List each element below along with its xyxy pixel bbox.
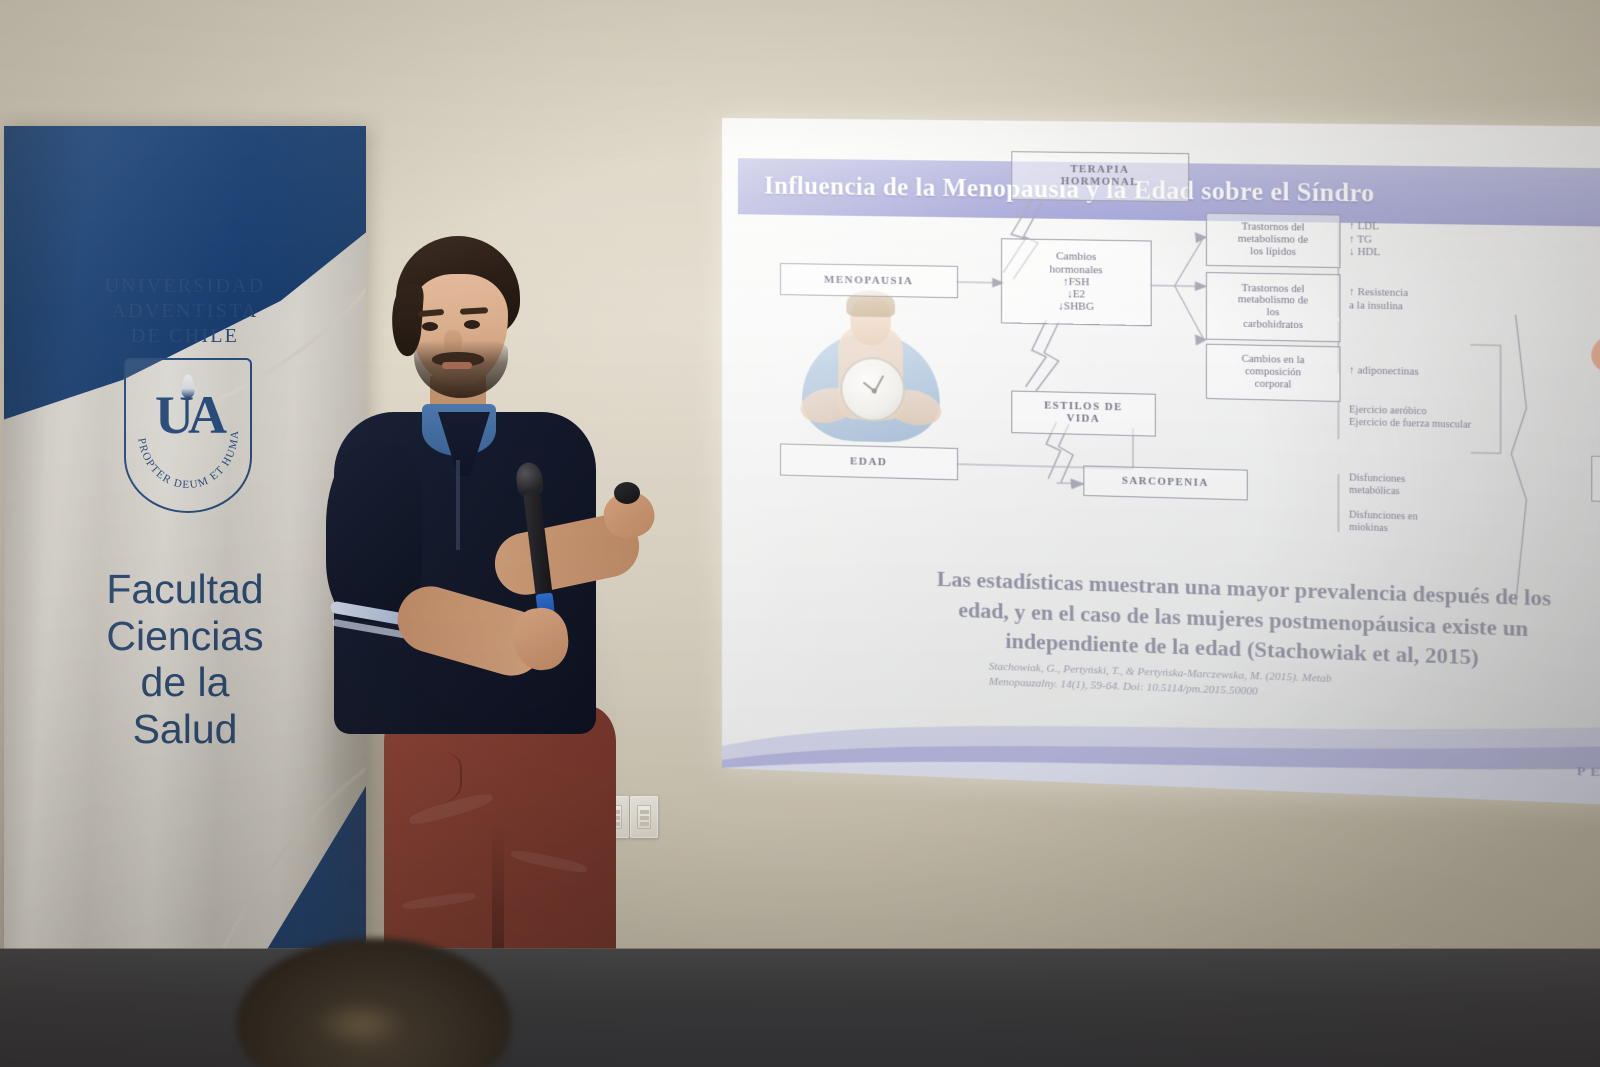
university-seal-icon: UA PROPTER DEUM ET HUMANITATEM <box>124 358 252 513</box>
diagram-node-terapia-hormonal: TERAPIA HORMONAL <box>1011 151 1189 202</box>
audience-highlight <box>312 1000 408 1048</box>
presentation-photo: Influencia de la Menopausia y la Edad so… <box>0 0 1600 1067</box>
slide-footer-brand: P EDUC <box>1577 762 1600 783</box>
diagram-node-cambios-hormonales: Cambios hormonales ↑FSH ↓E2 ↓SHBG <box>1001 238 1152 326</box>
diagram-node-cambios-composicion: Cambios en la composición corporal <box>1206 344 1341 402</box>
shirt-placket <box>456 460 460 550</box>
projection-screen: Influencia de la Menopausia y la Edad so… <box>722 118 1600 806</box>
slide-body-text: Las estadísticas muestran una mayor prev… <box>850 562 1600 680</box>
banner-faculty-name: Facultad Ciencias de la Salud <box>4 566 366 753</box>
diagram-node-menopausia: MENOPAUSIA <box>780 263 958 298</box>
diagram-node-trastornos-carbohidratos: Trastornos del metabolismo de los carboh… <box>1206 272 1341 342</box>
rollup-banner: UNIVERSIDAD ADVENTISTA DE CHILE UA PROPT… <box>4 126 366 1067</box>
clock-icon <box>840 356 905 422</box>
presenter-eye-left <box>422 322 438 331</box>
banner-university-name: UNIVERSIDAD ADVENTISTA DE CHILE <box>4 274 366 350</box>
slide-surface: Influencia de la Menopausia y la Edad so… <box>722 118 1600 806</box>
presentation-clicker-icon[interactable] <box>614 482 640 504</box>
annotation-lipidos-detail: ↑ LDL ↑ TG ↓ HDL <box>1349 221 1380 260</box>
diagram-node-edad: EDAD <box>780 443 958 480</box>
annotation-carbohidratos-detail: ↑ Resistencia a la insulina <box>1349 287 1408 314</box>
presenter-mouth <box>442 362 472 369</box>
diagram-node-far-right <box>1591 456 1600 504</box>
diagram-node-sarcopenia: SARCOPENIA <box>1083 465 1247 500</box>
diagram-node-estilos-de-vida: ESTILOS DE VIDA <box>1011 391 1156 437</box>
presenter-eye-right <box>464 320 480 329</box>
anatomy-illustration-a <box>1591 333 1600 378</box>
diagram-node-trastornos-lipidos: Trastornos del metabolismo de los lípido… <box>1206 213 1341 268</box>
annotation-estilos-detail: Ejercicio aeróbico Ejercicio de fuerza m… <box>1349 404 1471 432</box>
seal-motto-text: PROPTER DEUM ET HUMANITATEM <box>124 358 252 513</box>
presenter <box>318 236 648 1026</box>
svg-text:PROPTER DEUM ET HUMANITATEM: PROPTER DEUM ET HUMANITATEM <box>124 358 241 491</box>
annotation-sarcopenia-detail: Disfunciones metabólicas Disfunciones en… <box>1349 472 1418 536</box>
woman-with-clock-illustration <box>794 291 948 445</box>
annotation-composicion-detail: ↑ adiponectinas <box>1349 365 1419 379</box>
clock-pivot <box>872 388 877 393</box>
pants-pocket <box>398 752 462 804</box>
